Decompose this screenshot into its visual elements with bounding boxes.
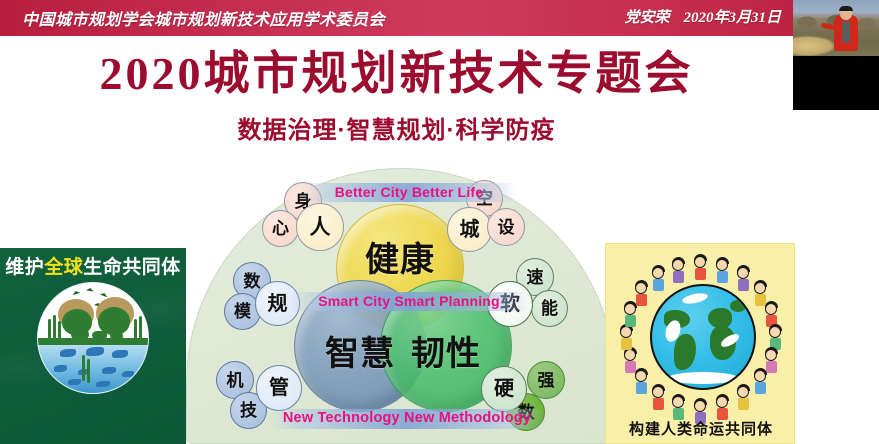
bird-icon [100,292,109,298]
poster-left-title-part3: 生命共同体 [83,257,181,278]
seaweed-icon [87,359,90,383]
continent-shape [708,308,732,328]
bird-icon [86,287,94,291]
ecology-illustration [37,282,149,394]
continent-shape [730,300,746,312]
cloud-shape [681,291,708,305]
fish-icon [102,367,116,374]
poster-human-destiny-community[interactable]: 构建人类命运共同体 [605,243,795,444]
poster-global-life-community[interactable]: 维护全球生命共同体 [0,248,186,444]
bubble-health-facility[interactable]: 设 [487,208,525,246]
grass-icon [134,319,137,339]
seaweed-icon [82,355,85,381]
grass-icon [139,316,142,339]
person-torso [842,21,850,43]
fish-icon [60,349,76,357]
banner-better-city: Better City Better Life [303,183,515,202]
grass-icon [58,321,61,339]
poster-left-title-part1: 维护 [5,257,44,278]
video-letterbox [793,56,879,110]
person-hat [839,6,853,11]
header-date: 2020年3月31日 [683,10,781,26]
poster-left-title: 维护全球生命共同体 [0,252,186,279]
fish-icon [122,371,134,377]
page-subtitle: 数据治理·智慧规划·科学防疫 [0,110,793,145]
fish-icon [96,381,110,387]
video-frame-image [793,0,879,56]
bird-icon [72,290,81,295]
header-presenter-name: 党安荣 [624,10,669,26]
venn-label-resilient: 韧性 [380,326,512,375]
header-organization: 中国城市规划学会城市规划新技术应用学术委员会 [22,6,385,30]
header-presenter-date: 党安荣2020年3月31日 [624,6,781,27]
title-block: 2020城市规划新技术专题会 数据治理·智慧规划·科学防疫 [0,36,793,166]
header-bar: 中国城市规划学会城市规划新技术应用学术委员会 党安荣2020年3月31日 [0,0,879,36]
banner-smart-city: Smart City Smart Planning [289,292,529,311]
venn-label-health: 健康 [336,232,464,281]
earth-globe-illustration [650,284,756,390]
fish-icon [86,347,104,356]
poster-right-caption: 构建人类命运共同体 [606,418,795,439]
banner-new-technology: New Technology New Methodology [268,409,546,429]
fish-icon [68,379,81,385]
fish-icon [54,365,67,372]
poster-left-title-part2: 全球 [44,257,83,278]
continent-shape [674,334,696,370]
antarctica-shape [668,372,738,384]
ground-line [38,338,149,345]
slide-canvas: 中国城市规划学会城市规划新技术应用学术委员会 党安荣2020年3月31日 202… [0,0,879,444]
page-title: 2020城市规划新技术专题会 [0,50,793,98]
grass-icon [48,319,51,339]
bubble-resilient-capacity[interactable]: 能 [531,290,568,327]
bubble-health-mind[interactable]: 心 [262,210,299,247]
grass-icon [53,315,56,339]
fish-icon [112,350,128,358]
presenter-video-thumbnail[interactable] [793,0,879,110]
